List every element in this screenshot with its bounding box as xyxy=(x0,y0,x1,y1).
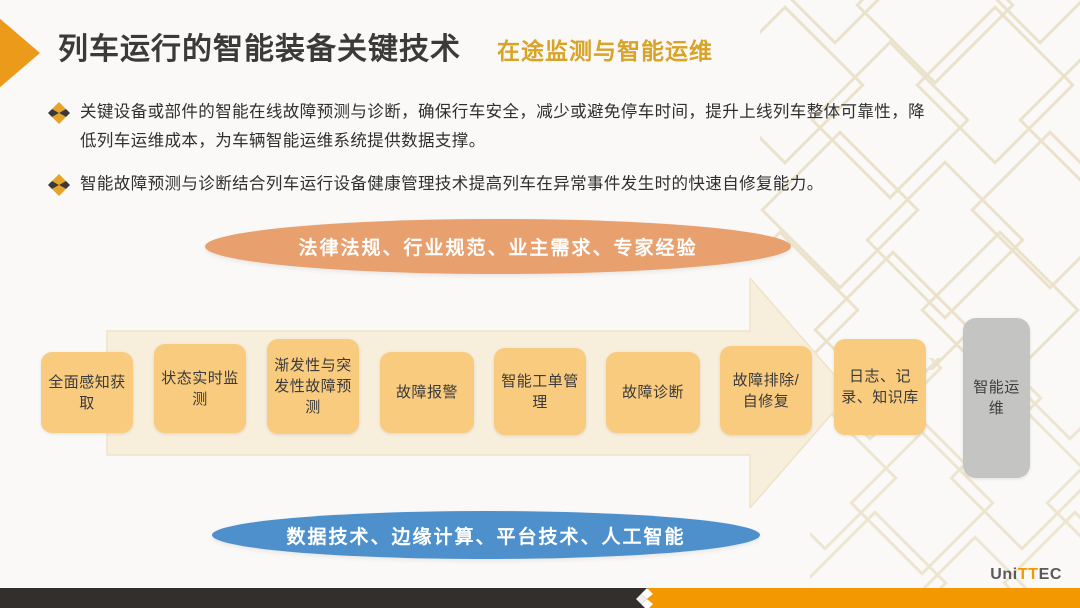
chevron-right-accent-icon xyxy=(0,17,54,89)
bullet-item: 关键设备或部件的智能在线故障预测与诊断，确保行车安全，减少或避免停车时间，提升上… xyxy=(46,98,926,156)
process-step-box[interactable]: 故障报警 xyxy=(380,352,474,433)
enablers-band-label: 数据技术、边缘计算、平台技术、人工智能 xyxy=(286,522,685,549)
title-main-text: 列车运行的智能装备关键技术 xyxy=(58,24,461,68)
process-step-box[interactable]: 全面感知获取 xyxy=(41,352,133,433)
diamond-petal-logo-icon xyxy=(634,586,660,608)
outcome-box-label: 智能运维 xyxy=(963,377,1030,419)
footer-bar-orange-segment xyxy=(648,588,1080,608)
bullet-list: 关键设备或部件的智能在线故障预测与诊断，确保行车安全，减少或避免停车时间，提升上… xyxy=(46,98,926,213)
inputs-band-label: 法律法规、行业规范、业主需求、专家经验 xyxy=(298,233,697,260)
page-title: 列车运行的智能装备关键技术 在途监测与智能运维 xyxy=(58,24,713,68)
enablers-band-technologies: 数据技术、边缘计算、平台技术、人工智能 xyxy=(212,511,760,559)
inputs-band-legal-standards: 法律法规、行业规范、业主需求、专家经验 xyxy=(205,219,791,274)
diamond-petal-bullet-icon xyxy=(46,172,72,198)
process-step-box[interactable]: 故障诊断 xyxy=(606,352,700,433)
bullet-item: 智能故障预测与诊断结合列车运行设备健康管理技术提高列车在异常事件发生时的快速自修… xyxy=(46,170,926,199)
process-step-box[interactable]: 智能工单管理 xyxy=(494,348,586,435)
title-sub-text: 在途监测与智能运维 xyxy=(497,32,713,66)
process-step-box[interactable]: 故障排除/自修复 xyxy=(720,346,812,435)
process-step-label: 智能工单管理 xyxy=(494,371,586,413)
brand-prefix: Uni xyxy=(990,566,1018,583)
footer-bar-dark-segment xyxy=(0,588,648,608)
process-step-label: 日志、记录、知识库 xyxy=(834,366,926,408)
process-step-label: 全面感知获取 xyxy=(41,372,133,414)
process-step-label: 状态实时监测 xyxy=(154,368,246,410)
brand-wordmark: UniTTEC xyxy=(990,566,1062,584)
footer-bar xyxy=(0,588,1080,608)
process-step-label: 渐发性与突发性故障预测 xyxy=(267,355,359,418)
slide-canvas: 列车运行的智能装备关键技术 在途监测与智能运维 关键设备或部件的智能在线故障预测… xyxy=(0,0,1080,608)
brand-accent: TT xyxy=(1018,566,1039,583)
bullet-text: 关键设备或部件的智能在线故障预测与诊断，确保行车安全，减少或避免停车时间，提升上… xyxy=(80,98,926,156)
brand-suffix: EC xyxy=(1039,566,1062,583)
process-step-box[interactable]: 渐发性与突发性故障预测 xyxy=(267,339,359,434)
process-step-box[interactable]: 日志、记录、知识库 xyxy=(834,339,926,435)
process-step-box[interactable]: 状态实时监测 xyxy=(154,344,246,433)
process-step-label: 故障报警 xyxy=(389,382,465,403)
process-step-label: 故障诊断 xyxy=(615,382,691,403)
process-step-label: 故障排除/自修复 xyxy=(720,370,812,412)
bullet-text: 智能故障预测与诊断结合列车运行设备健康管理技术提高列车在异常事件发生时的快速自修… xyxy=(80,170,824,199)
outcome-box-intelligent-om[interactable]: 智能运维 xyxy=(963,318,1030,478)
diamond-petal-bullet-icon xyxy=(46,100,72,126)
